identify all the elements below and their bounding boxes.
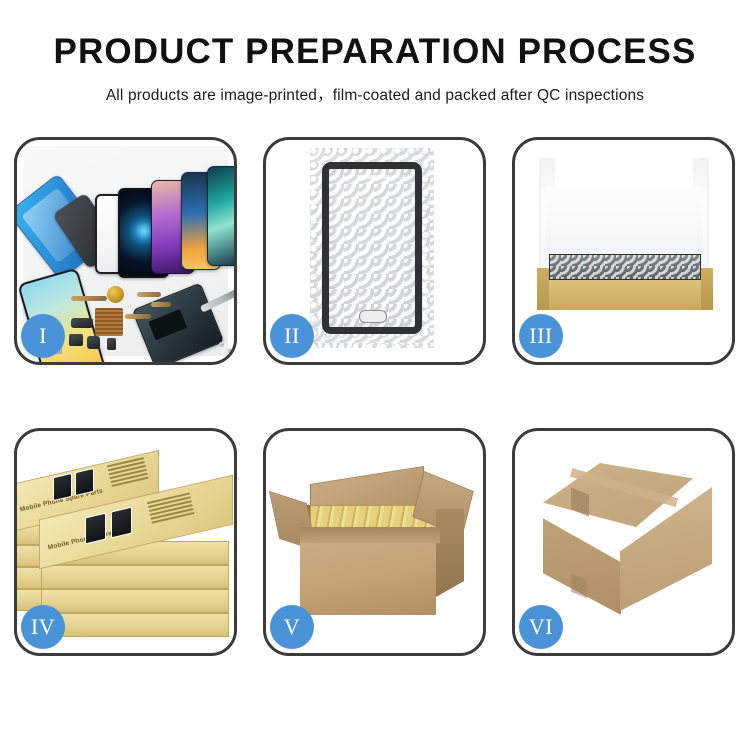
wrapped-screen-glass bbox=[322, 162, 422, 334]
teal-phone-back bbox=[207, 166, 234, 266]
button-part bbox=[107, 338, 116, 350]
carton-body-side bbox=[436, 509, 464, 597]
sealed-carton-left-face bbox=[543, 505, 621, 615]
box-layer-front-4 bbox=[41, 589, 229, 613]
flex-cable-part-1 bbox=[71, 296, 107, 301]
earpiece-slot bbox=[357, 175, 387, 179]
box-artwork-rear-2 bbox=[75, 468, 94, 496]
process-step-6[interactable]: VI bbox=[512, 428, 735, 656]
box-artwork-front-1 bbox=[85, 513, 106, 545]
flex-cable-part-4 bbox=[125, 314, 151, 319]
battery-connector-part bbox=[87, 336, 100, 349]
kraft-tray bbox=[537, 268, 713, 310]
bubble-wrap-photo bbox=[310, 148, 434, 348]
page-subtitle: All products are image-printed，film-coat… bbox=[0, 83, 750, 105]
process-step-1[interactable]: I bbox=[14, 137, 237, 365]
page-title: PRODUCT PREPARATION PROCESS bbox=[0, 34, 750, 71]
process-step-4[interactable]: Mobile Phone Spare Parts Mobile Phone Sp… bbox=[14, 428, 237, 656]
flex-cable-part-2 bbox=[137, 292, 161, 297]
process-step-2[interactable]: II bbox=[263, 137, 486, 365]
step-3-badge: III bbox=[519, 314, 563, 358]
box-artwork-rear-1 bbox=[53, 473, 72, 501]
screw-part-2 bbox=[227, 348, 232, 353]
box-artwork-front-2 bbox=[111, 507, 132, 539]
camera-module-part bbox=[71, 318, 93, 328]
step-1-badge: I bbox=[21, 314, 65, 358]
process-step-5[interactable]: V bbox=[263, 428, 486, 656]
speaker-part bbox=[69, 334, 83, 346]
page-header: PRODUCT PREPARATION PROCESS All products… bbox=[0, 0, 750, 105]
step-6-badge: VI bbox=[519, 605, 563, 649]
process-step-grid: I II III bbox=[14, 137, 736, 656]
connector-grid-part bbox=[95, 308, 123, 336]
vibration-motor-part bbox=[107, 286, 124, 303]
foam-insert bbox=[545, 186, 703, 262]
home-button bbox=[359, 310, 387, 323]
wrapped-product-in-tray bbox=[549, 254, 701, 280]
box-layer-front-3 bbox=[41, 565, 229, 589]
step-4-badge: IV bbox=[21, 605, 65, 649]
step-5-badge: V bbox=[270, 605, 314, 649]
box-layer-front-5 bbox=[41, 613, 229, 637]
step-2-badge: II bbox=[270, 314, 314, 358]
carton-flap-front bbox=[300, 527, 440, 543]
flex-cable-part-3 bbox=[151, 302, 171, 307]
process-step-3[interactable]: III bbox=[512, 137, 735, 365]
screw-part-1 bbox=[219, 342, 224, 347]
